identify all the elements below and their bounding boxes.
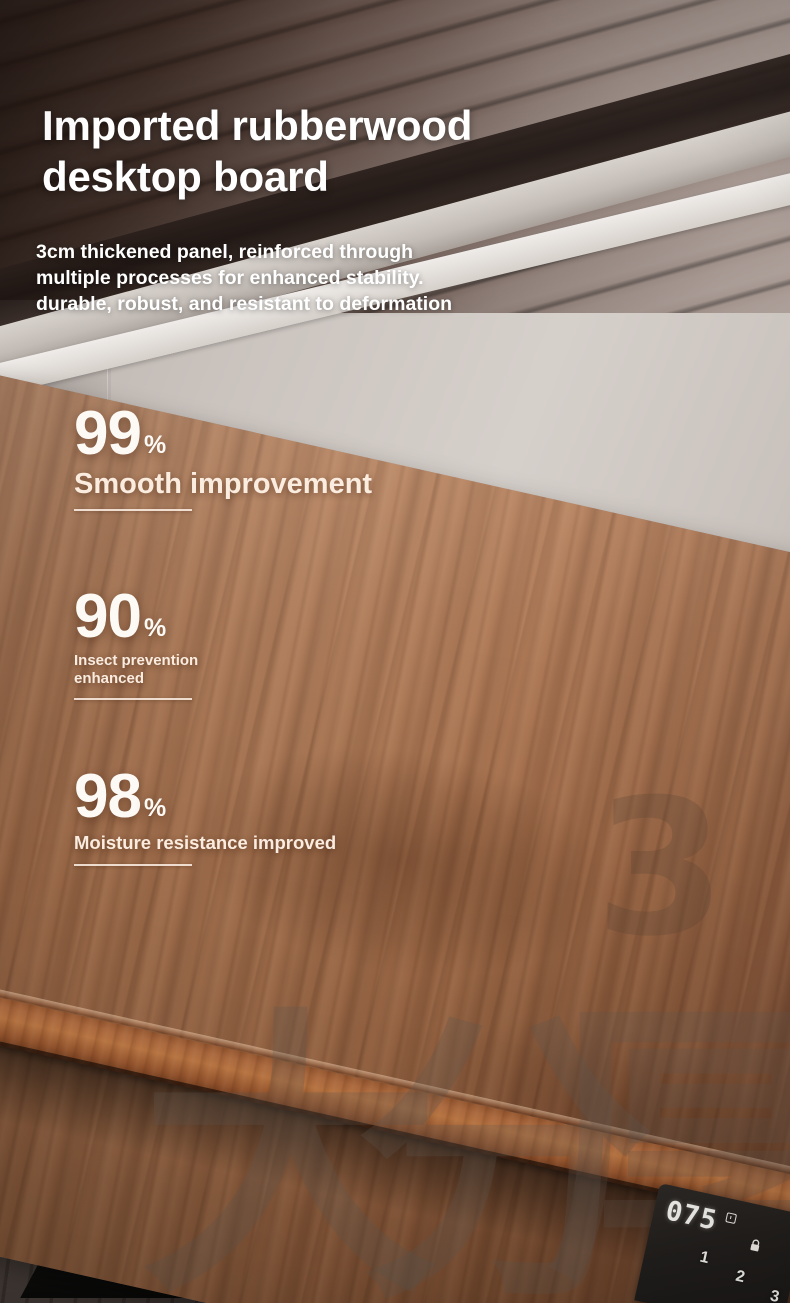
- stat-block-insect: 90 % Insect prevention enhanced: [74, 588, 198, 700]
- preset-button-1[interactable]: 1: [698, 1249, 711, 1268]
- stat-number-group: 90 %: [74, 588, 198, 645]
- stat-label-line-1: Insect prevention: [74, 652, 198, 670]
- stat-underline: [74, 698, 192, 700]
- stat-underline: [74, 864, 192, 866]
- product-marketing-image: 3 大 分 厚 075 1 2 3 Imported rubberwood de…: [0, 0, 790, 1303]
- preset-button-3[interactable]: 3: [768, 1288, 781, 1303]
- stat-block-moisture: 98 % Moisture resistance improved: [74, 768, 336, 866]
- lock-icon[interactable]: [749, 1238, 763, 1253]
- page-subtitle: 3cm thickened panel, reinforced through …: [36, 240, 676, 318]
- stat-label: Smooth improvement: [74, 468, 372, 501]
- stat-value: 90: [74, 588, 141, 645]
- subtitle-line-1: 3cm thickened panel, reinforced through: [36, 240, 676, 266]
- stat-value: 98: [74, 768, 141, 825]
- stat-label-line-2: enhanced: [74, 670, 198, 688]
- height-display: 075: [663, 1195, 720, 1236]
- stat-block-smooth: 99 % Smooth improvement: [74, 405, 372, 511]
- stat-value: 99: [74, 405, 141, 462]
- stat-percent-sign: %: [144, 617, 166, 645]
- stat-number-group: 99 %: [74, 405, 372, 462]
- stat-number-group: 98 %: [74, 768, 336, 825]
- page-title: Imported rubberwood desktop board: [42, 100, 662, 202]
- headline-line-1: Imported rubberwood: [42, 100, 662, 151]
- subtitle-line-2: multiple processes for enhanced stabilit…: [36, 266, 676, 292]
- stat-label: Moisture resistance improved: [74, 832, 336, 854]
- clock-icon[interactable]: [725, 1212, 737, 1224]
- subtitle-line-3: durable, robust, and resistant to deform…: [36, 292, 676, 318]
- stat-percent-sign: %: [144, 797, 166, 825]
- preset-button-2[interactable]: 2: [734, 1268, 747, 1287]
- headline-line-2: desktop board: [42, 151, 662, 202]
- stat-percent-sign: %: [144, 434, 166, 462]
- stat-label: Insect prevention enhanced: [74, 652, 198, 687]
- stat-underline: [74, 509, 192, 511]
